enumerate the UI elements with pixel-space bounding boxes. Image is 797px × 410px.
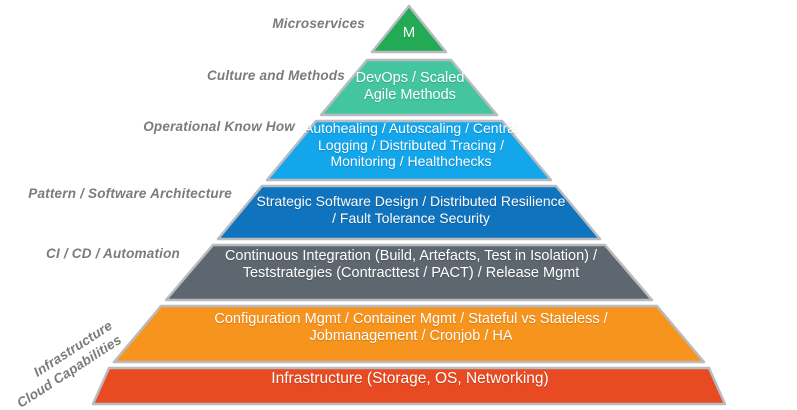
pyramid-side-label-culture: Culture and Methods xyxy=(110,68,345,83)
pyramid-layer-shape-cicd xyxy=(166,245,652,300)
pyramid-layer-shape-pattern xyxy=(218,186,600,239)
pyramid-layer-shape-microservices xyxy=(372,6,446,52)
pyramid-side-label-cicd: CI / CD / Automation xyxy=(0,246,180,261)
pyramid-side-label-operations: Operational Know How xyxy=(60,119,295,134)
pyramid-layer-shape-infrastructure xyxy=(93,368,725,404)
pyramid-diagram: M DevOps / Scaled Agile Methods Autoheal… xyxy=(0,0,797,410)
pyramid-side-label-microservices: Microservices xyxy=(150,16,365,31)
pyramid-layer-shape-operations xyxy=(267,121,551,180)
pyramid-side-label-pattern: Pattern / Software Architecture xyxy=(0,186,232,201)
pyramid-layer-shape-cloud xyxy=(114,306,704,362)
pyramid-layer-shape-culture xyxy=(321,60,497,115)
